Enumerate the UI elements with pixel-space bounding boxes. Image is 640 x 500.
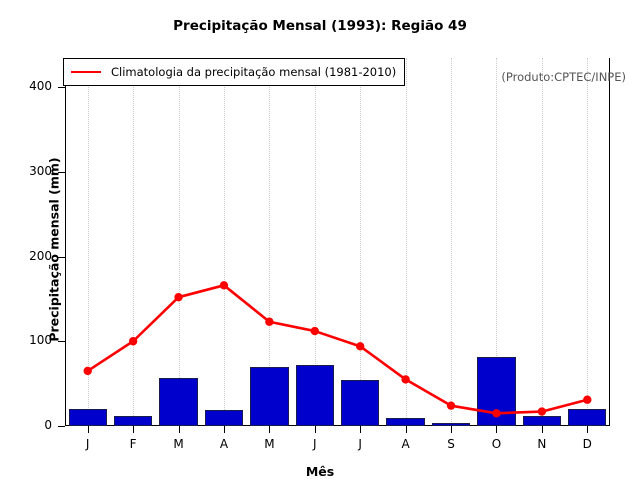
data-point-n-10 bbox=[538, 407, 546, 415]
y-axis-label: Precipitação mensal (mm) bbox=[47, 100, 62, 400]
x-tick-label-5: J bbox=[292, 437, 338, 451]
data-point-a-3 bbox=[220, 281, 228, 289]
x-tick-mark bbox=[133, 426, 134, 433]
x-tick-mark bbox=[224, 426, 225, 433]
x-tick-mark bbox=[587, 426, 588, 433]
x-tick-label-8: S bbox=[428, 437, 474, 451]
x-tick-label-2: M bbox=[156, 437, 202, 451]
x-tick-label-10: N bbox=[519, 437, 565, 451]
data-point-m-2 bbox=[174, 293, 182, 301]
data-point-o-9 bbox=[492, 409, 500, 417]
y-tick-label: 300 bbox=[0, 164, 52, 178]
y-tick-label: 400 bbox=[0, 79, 52, 93]
data-point-m-4 bbox=[265, 318, 273, 326]
data-point-s-8 bbox=[447, 401, 455, 409]
data-point-d-11 bbox=[583, 396, 591, 404]
x-tick-mark bbox=[451, 426, 452, 433]
y-tick-label: 200 bbox=[0, 249, 52, 263]
chart-legend: Climatologia da precipitação mensal (198… bbox=[63, 58, 405, 86]
x-tick-mark bbox=[406, 426, 407, 433]
chart-title: Precipitação Mensal (1993): Região 49 bbox=[0, 18, 640, 34]
x-tick-label-1: F bbox=[110, 437, 156, 451]
climatology-markers bbox=[84, 281, 592, 417]
y-tick-label: 100 bbox=[0, 333, 52, 347]
x-tick-mark bbox=[179, 426, 180, 433]
y-tick-label: 0 bbox=[0, 418, 52, 432]
x-tick-label-11: D bbox=[564, 437, 610, 451]
x-axis-label: Mês bbox=[0, 464, 640, 479]
data-point-j-6 bbox=[356, 342, 364, 350]
x-tick-mark bbox=[542, 426, 543, 433]
x-tick-label-0: J bbox=[65, 437, 111, 451]
plot-drawing-area bbox=[65, 58, 610, 426]
legend-entry-label: Climatologia da precipitação mensal (198… bbox=[111, 65, 396, 79]
chart-figure: Precipitação Mensal (1993): Região 49 01… bbox=[0, 0, 640, 500]
y-tick-mark bbox=[58, 426, 65, 427]
x-tick-label-4: M bbox=[246, 437, 292, 451]
x-tick-label-3: A bbox=[201, 437, 247, 451]
line-series bbox=[65, 58, 610, 426]
producer-annotation: (Produto:CPTEC/INPE) bbox=[501, 70, 626, 84]
data-point-j-5 bbox=[311, 327, 319, 335]
x-tick-label-9: O bbox=[473, 437, 519, 451]
x-tick-mark bbox=[496, 426, 497, 433]
x-tick-mark bbox=[315, 426, 316, 433]
climatology-line bbox=[88, 285, 588, 413]
x-tick-label-6: J bbox=[337, 437, 383, 451]
x-tick-mark bbox=[88, 426, 89, 433]
y-tick-mark bbox=[58, 87, 65, 88]
data-point-f-1 bbox=[129, 337, 137, 345]
x-tick-label-7: A bbox=[383, 437, 429, 451]
data-point-a-7 bbox=[401, 375, 409, 383]
x-tick-mark bbox=[360, 426, 361, 433]
data-point-j-0 bbox=[84, 367, 92, 375]
x-tick-mark bbox=[269, 426, 270, 433]
legend-line-swatch bbox=[71, 71, 101, 73]
